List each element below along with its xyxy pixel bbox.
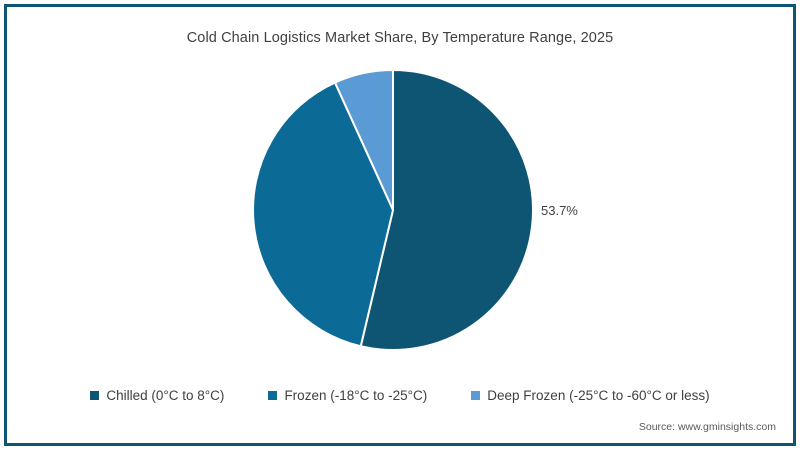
legend-item-chilled[interactable]: Chilled (0°C to 8°C) xyxy=(90,388,224,403)
legend-item-label: Deep Frozen (-25°C to -60°C or less) xyxy=(487,388,709,403)
pie-slice-group xyxy=(253,70,533,350)
legend-item-frozen[interactable]: Frozen (-18°C to -25°C) xyxy=(268,388,427,403)
pie-slice-label-chilled: 53.7% xyxy=(541,203,578,218)
legend-item-label: Frozen (-18°C to -25°C) xyxy=(284,388,427,403)
chart-figure: Cold Chain Logistics Market Share, By Te… xyxy=(0,0,800,450)
source-attribution: Source: www.gminsights.com xyxy=(639,421,776,433)
legend-swatch-icon xyxy=(268,391,277,400)
pie-chart: 53.7% xyxy=(0,0,800,450)
pie-chart-svg xyxy=(0,0,800,450)
legend-item-label: Chilled (0°C to 8°C) xyxy=(106,388,224,403)
legend-swatch-icon xyxy=(90,391,99,400)
legend-swatch-icon xyxy=(471,391,480,400)
legend-item-deep-frozen[interactable]: Deep Frozen (-25°C to -60°C or less) xyxy=(471,388,709,403)
chart-legend: Chilled (0°C to 8°C) Frozen (-18°C to -2… xyxy=(0,388,800,403)
